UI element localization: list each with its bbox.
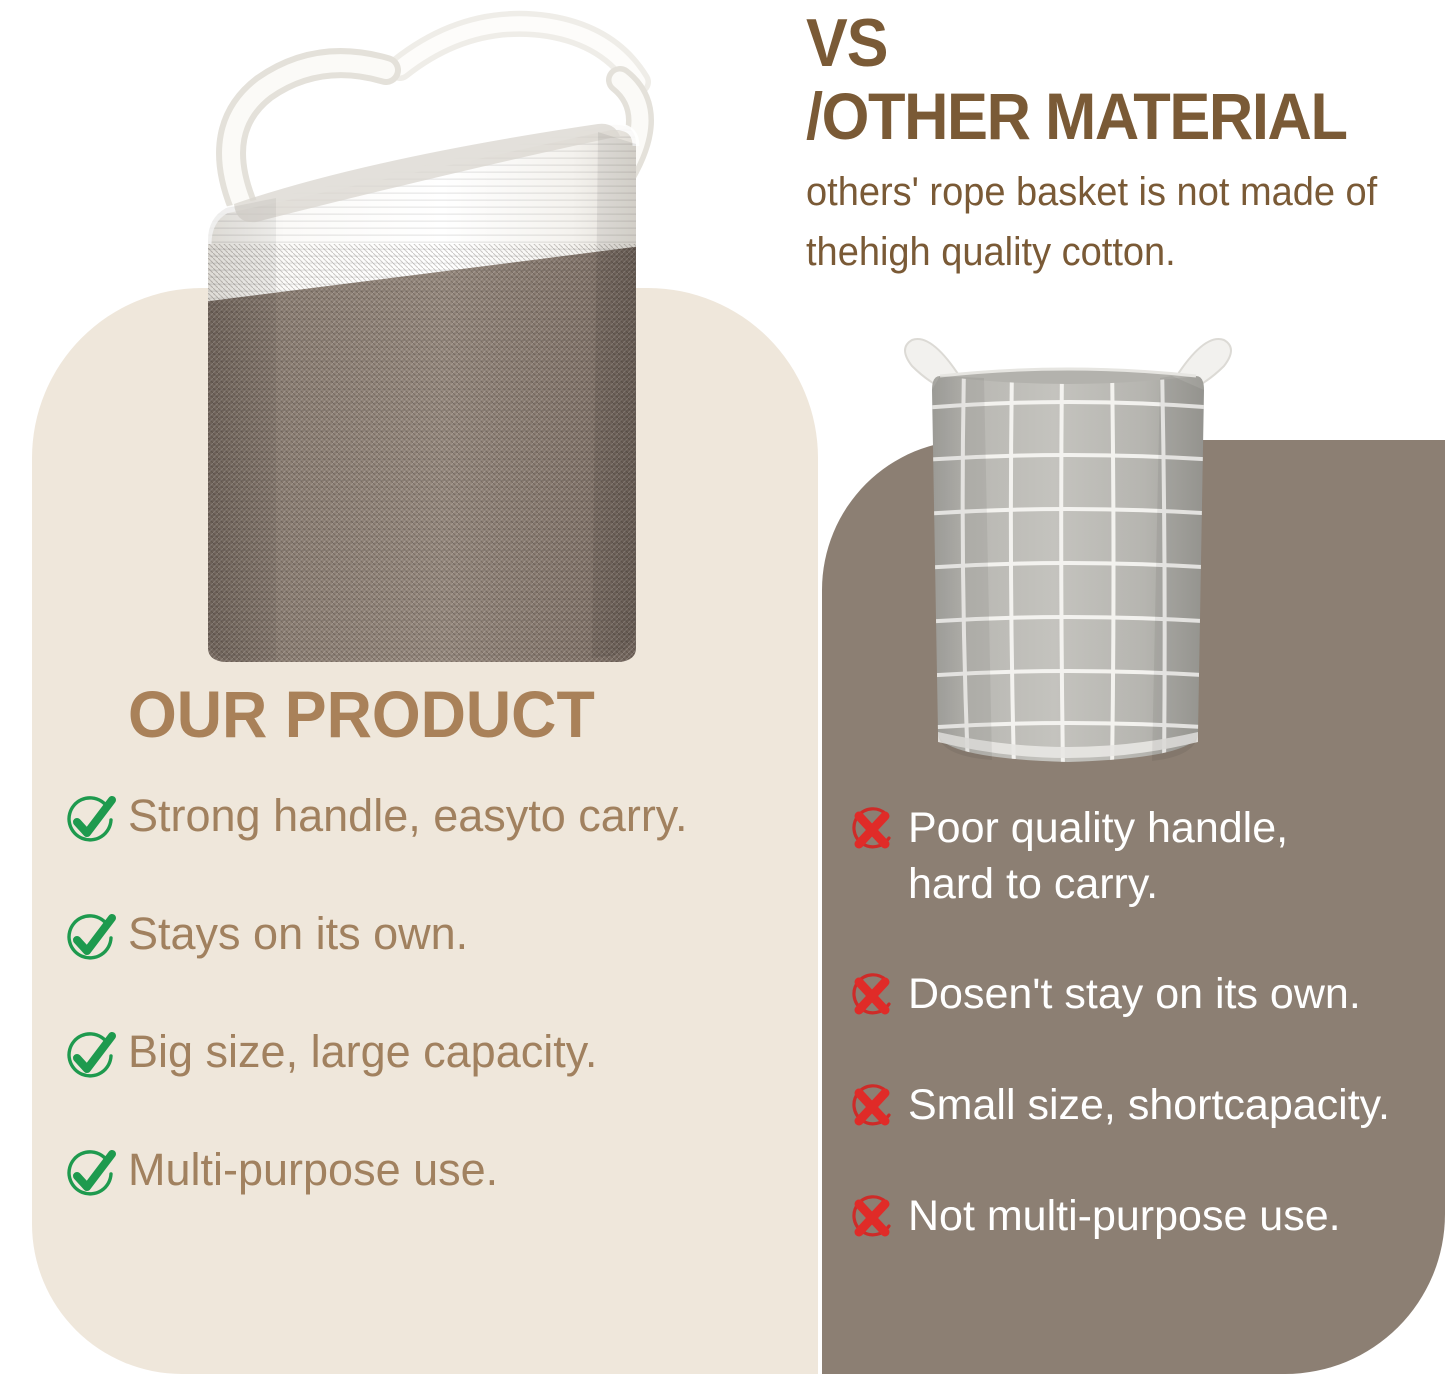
our-product-title: OUR PRODUCT xyxy=(128,676,595,752)
list-item-label: Stays on its own. xyxy=(128,908,468,960)
list-item-label: Small size, shortcapacity. xyxy=(908,1077,1390,1133)
our-rope-basket-image xyxy=(168,8,688,680)
cons-list: Poor quality handle, hard to carry. Dose… xyxy=(846,800,1436,1299)
other-material-title: /OTHER MATERIAL xyxy=(806,80,1400,152)
other-material-subtitle: others' rope basket is not made of thehi… xyxy=(806,162,1413,282)
check-icon xyxy=(62,912,118,968)
list-item: Dosen't stay on its own. xyxy=(846,966,1436,1023)
list-item: Multi-purpose use. xyxy=(62,1144,802,1204)
list-item-label: Big size, large capacity. xyxy=(128,1026,597,1078)
check-icon xyxy=(62,1148,118,1204)
list-item: Strong handle, easyto carry. xyxy=(62,790,802,850)
vs-label: VS xyxy=(806,0,1394,80)
list-item-label: Dosen't stay on its own. xyxy=(908,966,1361,1022)
list-item: Poor quality handle, hard to carry. xyxy=(846,800,1436,912)
list-item-label: Not multi-purpose use. xyxy=(908,1188,1341,1244)
list-item-label: Poor quality handle, hard to carry. xyxy=(908,800,1288,912)
list-item: Not multi-purpose use. xyxy=(846,1188,1436,1245)
cross-icon xyxy=(846,805,898,857)
check-icon xyxy=(62,794,118,850)
cross-icon xyxy=(846,1193,898,1245)
list-item: Big size, large capacity. xyxy=(62,1026,802,1086)
list-item-label: Strong handle, easyto carry. xyxy=(128,790,687,842)
list-item: Stays on its own. xyxy=(62,908,802,968)
cross-icon xyxy=(846,1082,898,1134)
check-icon xyxy=(62,1030,118,1086)
list-item: Small size, shortcapacity. xyxy=(846,1077,1436,1134)
competitor-grid-basket-image xyxy=(872,318,1264,792)
cross-icon xyxy=(846,971,898,1023)
pros-list: Strong handle, easyto carry. Stays on it… xyxy=(62,790,802,1262)
list-item-label: Multi-purpose use. xyxy=(128,1144,498,1196)
vs-heading-block: VS /OTHER MATERIAL others' rope basket i… xyxy=(806,0,1445,282)
